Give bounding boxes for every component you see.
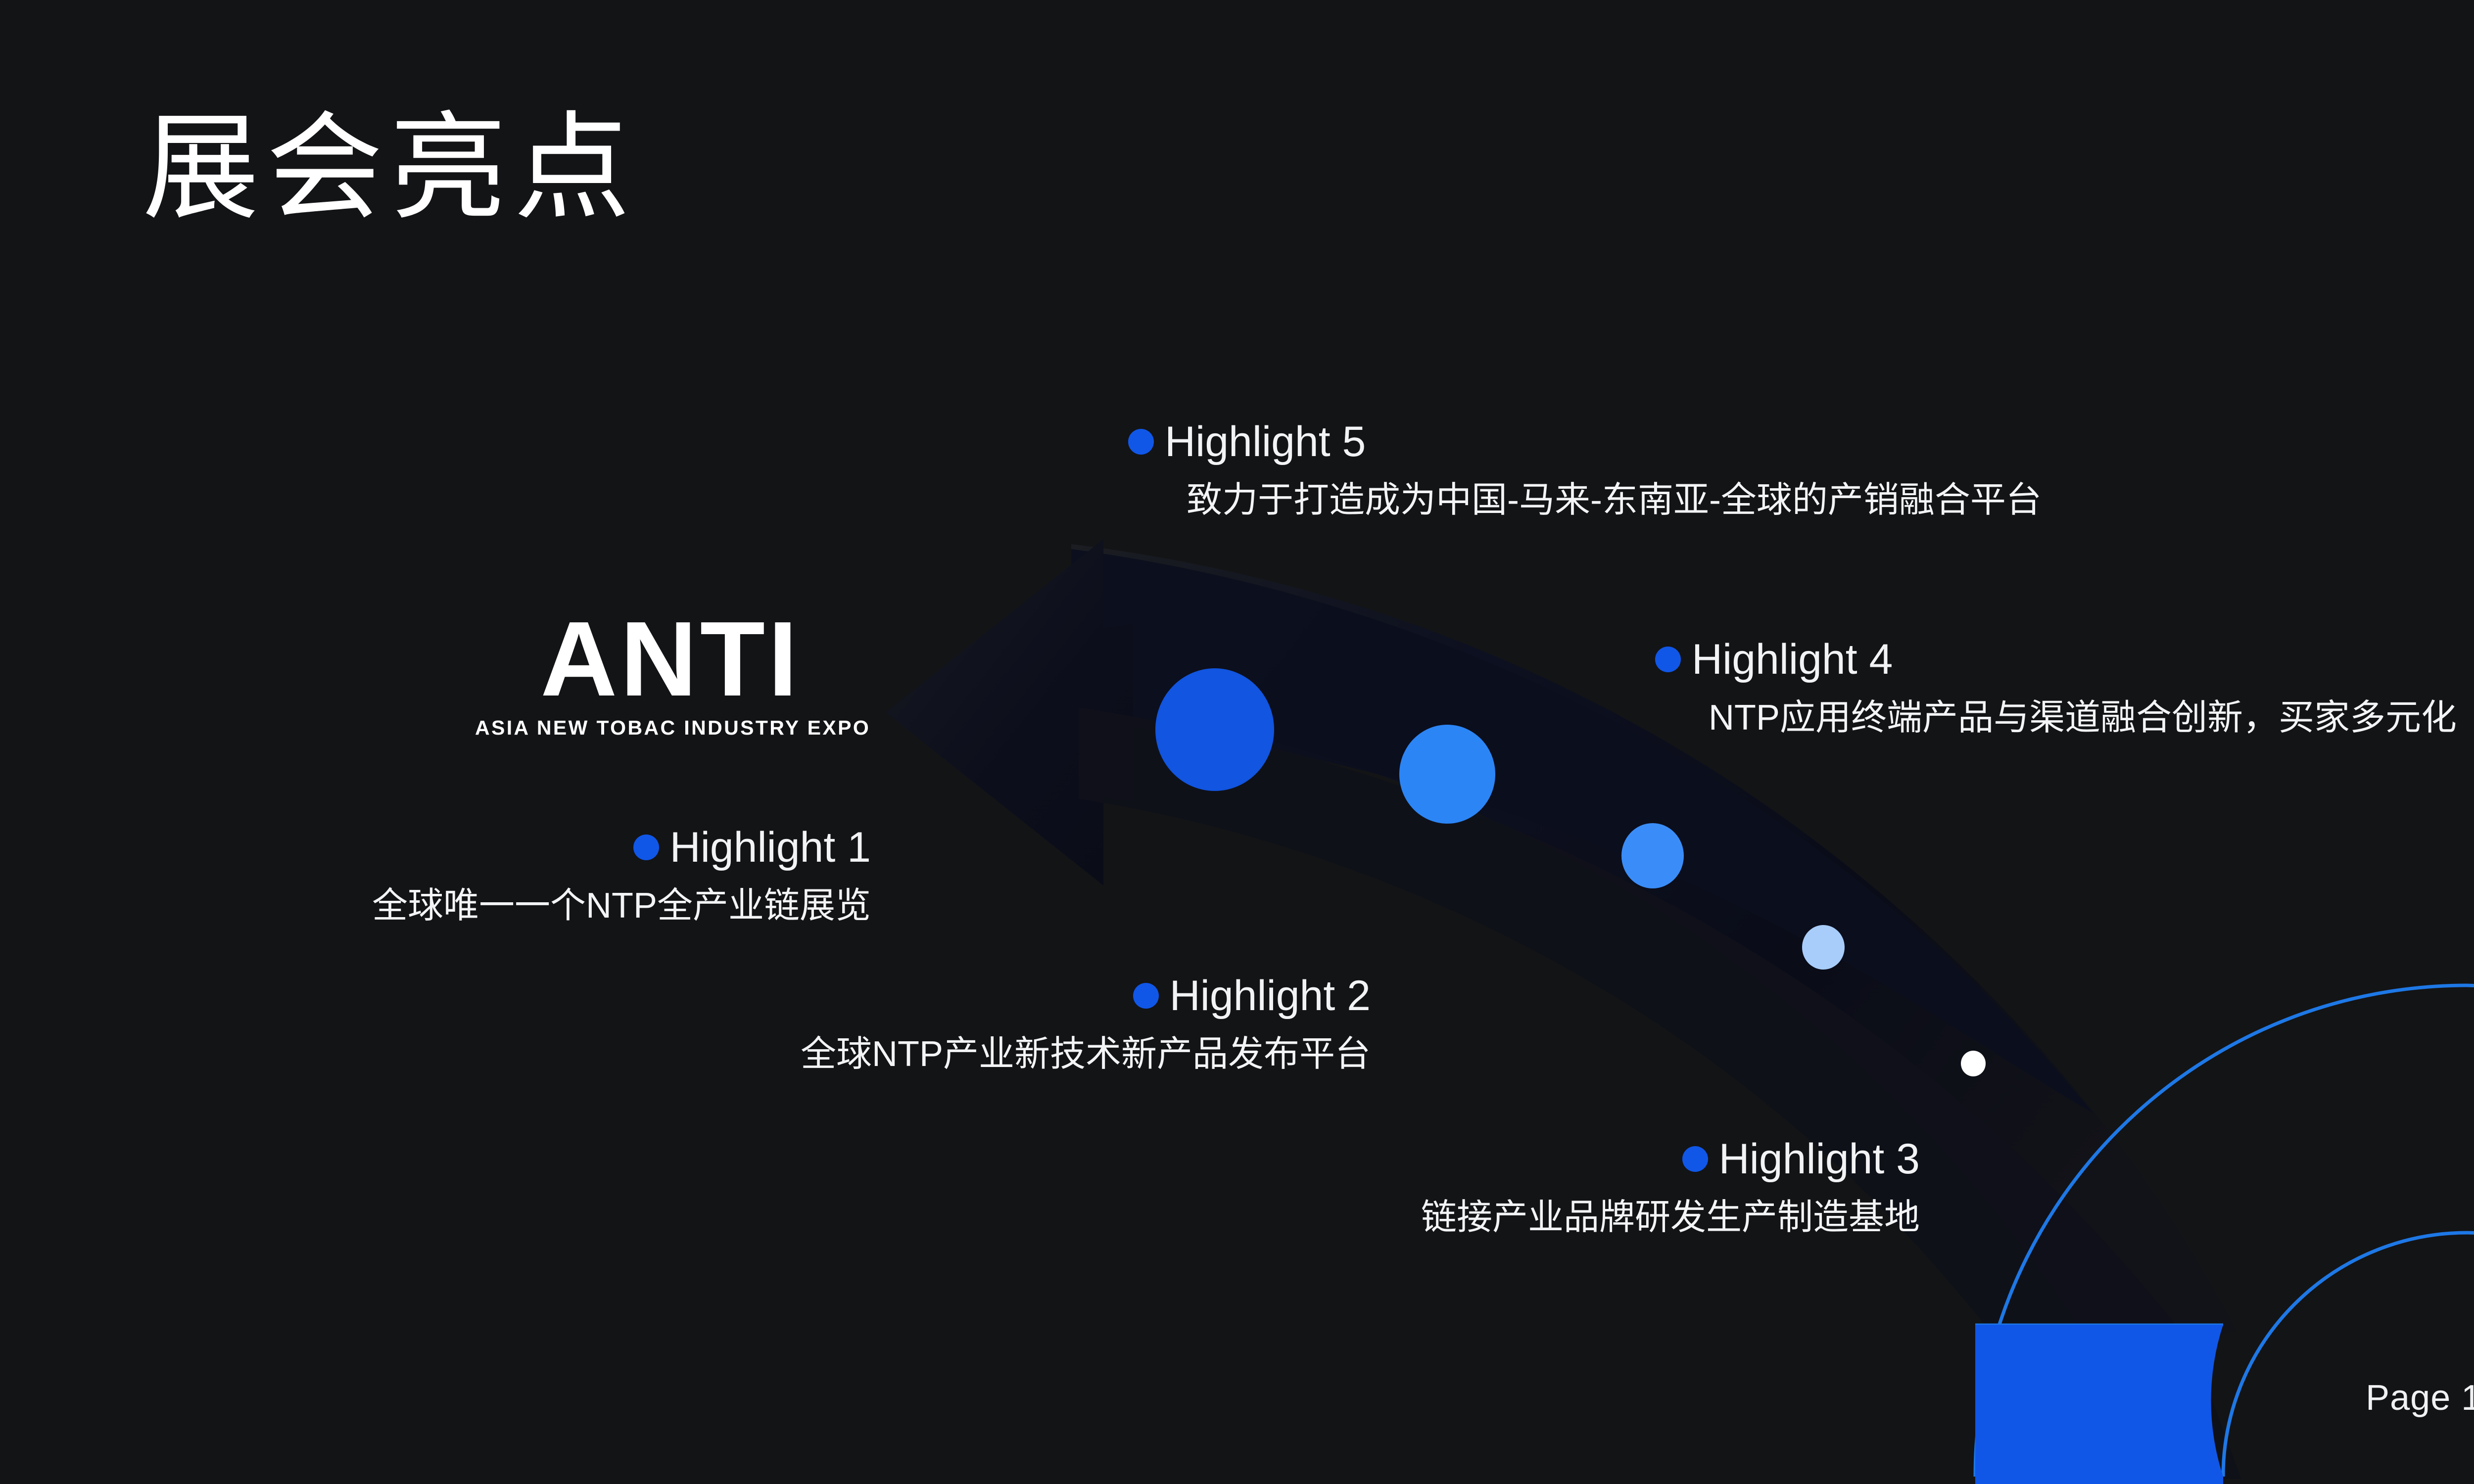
highlight-2-label: Highlight 2 (1170, 974, 1371, 1017)
anti-logo: ANTI ASIA NEW TOBAC INDUSTRY EXPO (475, 608, 866, 740)
page-number: Page 11 (2366, 1378, 2474, 1418)
highlight-4-header: Highlight 4 (1655, 638, 2457, 681)
sphere-1 (1155, 668, 1274, 791)
highlight-5-header: Highlight 5 (1128, 420, 2042, 463)
logo-tagline: ASIA NEW TOBAC INDUSTRY EXPO (475, 716, 866, 740)
highlight-2-description: 全球NTP产业新技术新产品发布平台 (0, 1032, 1371, 1076)
highlight-4-label: Highlight 4 (1692, 638, 1893, 681)
highlight-1-header: Highlight 1 (0, 826, 871, 869)
logo-wordmark: ANTI (475, 608, 866, 709)
highlight-1-description: 全球唯一一个NTP全产业链展览 (0, 883, 871, 928)
highlight-4-description: NTP应用终端产品与渠道融合创新，买家多元化 (1709, 696, 2457, 740)
bullet-dot-icon (1655, 647, 1681, 672)
highlight-1-group[interactable]: Highlight 1 全球唯一一个NTP全产业链展览 (0, 826, 871, 928)
sphere-3 (1621, 823, 1684, 888)
highlight-5-label: Highlight 5 (1165, 420, 1366, 463)
highlight-5-group[interactable]: Highlight 5 致力于打造成为中国-马来-东南亚-全球的产销融合平台 (1128, 420, 2042, 522)
highlight-3-description: 链接产业品牌研发生产制造基地 (0, 1195, 1920, 1240)
highlight-3-group[interactable]: Highlight 3 链接产业品牌研发生产制造基地 (0, 1138, 1920, 1240)
bullet-dot-icon (1128, 429, 1154, 455)
highlight-3-label: Highlight 3 (1719, 1138, 1920, 1180)
sphere-4 (1802, 925, 1845, 970)
bullet-dot-icon (1682, 1146, 1708, 1172)
bullet-dot-icon (1133, 983, 1159, 1009)
highlight-2-header: Highlight 2 (0, 974, 1371, 1017)
page-title: 展会亮点 (143, 101, 637, 235)
sphere-2 (1399, 725, 1495, 824)
highlight-1-label: Highlight 1 (670, 826, 871, 869)
bullet-dot-icon (633, 835, 659, 860)
highlight-2-group[interactable]: Highlight 2 全球NTP产业新技术新产品发布平台 (0, 974, 1371, 1076)
highlight-3-header: Highlight 3 (0, 1138, 1920, 1180)
highlight-5-description: 致力于打造成为中国-马来-东南亚-全球的产销融合平台 (1187, 478, 2042, 522)
highlight-4-group[interactable]: Highlight 4 NTP应用终端产品与渠道融合创新，买家多元化 (1655, 638, 2457, 740)
sphere-5 (1961, 1051, 1986, 1076)
slide-canvas: 展会亮点 ANTI ASIA NEW TOBAC INDUSTRY EXPO H… (0, 0, 2474, 1484)
